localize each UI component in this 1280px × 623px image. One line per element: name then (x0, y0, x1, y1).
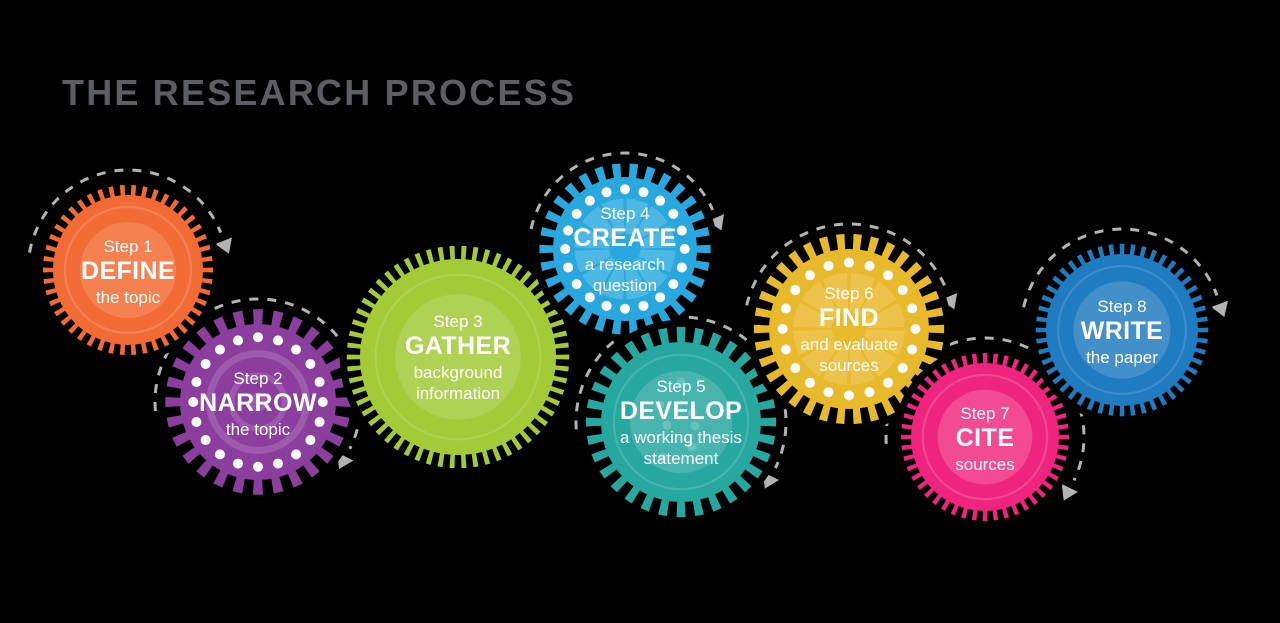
gear-stud-dot (668, 209, 678, 219)
gear-step-number: Step 6 (824, 284, 873, 303)
gear-stud-dot (805, 378, 815, 388)
gear-stud-dot (602, 301, 612, 311)
gear-stud-dot (191, 417, 201, 427)
gear-action-verb: DEFINE (81, 257, 175, 285)
gear-step-number: Step 8 (1097, 297, 1146, 316)
gear-stud-dot (572, 279, 582, 289)
gear-stud-dot (910, 324, 920, 334)
gear-stud-dot (668, 279, 678, 289)
gear-action-verb: CREATE (573, 224, 676, 252)
gear-stud-dot (305, 359, 315, 369)
gear-description-line: the topic (226, 420, 291, 439)
gear-stud-dot (273, 335, 283, 345)
gear-stud-dot (560, 244, 570, 254)
gear-description-line: and evaluate (800, 335, 897, 354)
gear-description-line: information (416, 384, 500, 403)
gear-stud-dot (291, 449, 301, 459)
gear-stud-dot (305, 435, 315, 445)
gear-stud-dot (273, 459, 283, 469)
gear-stud-dot (680, 244, 690, 254)
gear-stud-dot (315, 417, 325, 427)
gear-stud-dot (844, 258, 854, 268)
gear-stud-dot (655, 196, 665, 206)
gear-stud-dot (215, 345, 225, 355)
gear-stud-dot (572, 209, 582, 219)
gear-description-line: a working thesis (620, 428, 742, 447)
gear-action-verb: CITE (956, 424, 1015, 452)
gear-action-verb: GATHER (405, 332, 511, 360)
gear-stud-dot (201, 359, 211, 369)
gear-stud-dot (781, 345, 791, 355)
gear-stud-dot (805, 270, 815, 280)
gear-stud-dot (233, 459, 243, 469)
gear-description-line: a research (585, 255, 665, 274)
gear-step-number: Step 4 (600, 204, 649, 223)
gear-description-line: question (593, 276, 657, 295)
gear-step-number: Step 1 (103, 237, 152, 256)
gear-stud-dot (781, 303, 791, 313)
gear-stud-dot (191, 377, 201, 387)
gear-step-number: Step 3 (433, 312, 482, 331)
gear-stud-dot (291, 345, 301, 355)
gear-stud-dot (253, 332, 263, 342)
gear-stud-dot (620, 304, 630, 314)
gear-stud-dot (201, 435, 211, 445)
gear-stud-dot (638, 187, 648, 197)
gear-step-number: Step 5 (656, 377, 705, 396)
gear-step-number: Step 7 (960, 404, 1009, 423)
gear-step-2[interactable]: Step 2NARROWthe topic (158, 302, 358, 502)
gear-stud-dot (865, 387, 875, 397)
gear-stud-dot (883, 270, 893, 280)
gear-description-line: statement (644, 449, 719, 468)
gear-stud-dot (907, 345, 917, 355)
gear-action-verb: WRITE (1081, 317, 1164, 345)
gear-stud-dot (315, 377, 325, 387)
gear-stud-dot (898, 285, 908, 295)
gear-stud-dot (677, 262, 687, 272)
gear-action-verb: FIND (819, 304, 879, 332)
infographic-canvas: THE RESEARCH PROCESS Step 1DEFINEthe top… (0, 0, 1280, 623)
gear-stud-dot (233, 335, 243, 345)
gear-stud-dot (790, 285, 800, 295)
gear-stud-dot (253, 462, 263, 472)
gear-stud-dot (620, 184, 630, 194)
gears-layer: Step 1DEFINEthe topicStep 2NARROWthe top… (36, 156, 1215, 528)
gear-stud-dot (865, 261, 875, 271)
gear-action-verb: NARROW (199, 389, 317, 417)
gear-stud-dot (823, 387, 833, 397)
gear-stud-dot (823, 261, 833, 271)
gear-description-line: the paper (1086, 348, 1158, 367)
gear-description-line: background (414, 363, 503, 382)
gear-stud-dot (602, 187, 612, 197)
gear-stud-dot (563, 262, 573, 272)
gear-stud-dot (318, 397, 328, 407)
gear-stud-dot (844, 390, 854, 400)
gear-stud-dot (677, 226, 687, 236)
gear-stud-dot (585, 196, 595, 206)
gear-description-line: sources (819, 356, 879, 375)
gear-stud-dot (215, 449, 225, 459)
gear-stud-dot (778, 324, 788, 334)
gear-step-8[interactable]: Step 8WRITEthe paper (1029, 237, 1216, 424)
gear-description-line: sources (955, 455, 1015, 474)
gear-description-line: the topic (96, 288, 161, 307)
gear-stud-dot (883, 378, 893, 388)
gear-stud-dot (563, 226, 573, 236)
gear-action-verb: DEVELOP (620, 397, 742, 425)
gear-stud-dot (898, 363, 908, 373)
gear-stud-dot (907, 303, 917, 313)
gear-step-number: Step 2 (233, 369, 282, 388)
gear-stud-dot (638, 301, 648, 311)
gear-diagram: Step 1DEFINEthe topicStep 2NARROWthe top… (0, 0, 1280, 623)
gear-stud-dot (790, 363, 800, 373)
gear-step-4[interactable]: Step 4CREATEa researchquestion (532, 156, 717, 341)
gear-stud-dot (188, 397, 198, 407)
